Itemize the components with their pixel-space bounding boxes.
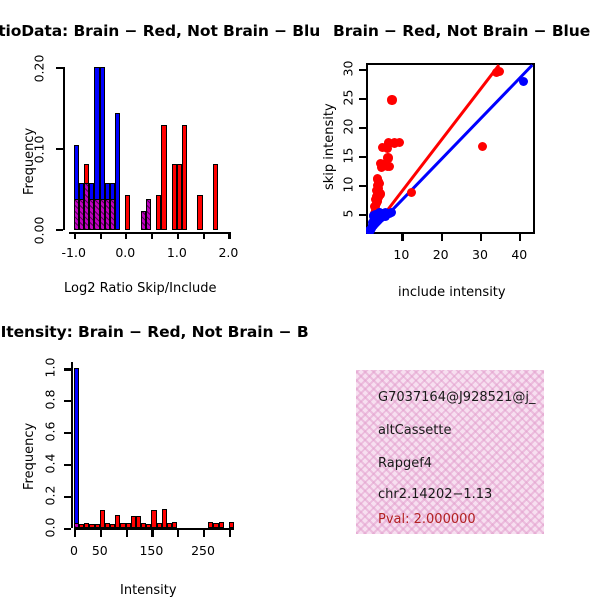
info-locus: chr2.14202−1.13 [378, 487, 492, 502]
scatter-point [519, 77, 528, 86]
scatter-ytick-label: 30 [341, 58, 356, 78]
ratio-histogram-bar [213, 164, 218, 230]
ratio-histogram-bar [125, 195, 130, 230]
info-event-type: altCassette [378, 423, 451, 438]
ratio-histogram-xtick-label: -1.0 [52, 245, 96, 260]
intensity-histogram-ytick [64, 368, 71, 370]
ratio-histogram-bar-overlap [146, 199, 151, 230]
scatter-plot-area [366, 63, 535, 234]
scatter-ytick [359, 127, 366, 129]
ratio-histogram-yaxis [63, 67, 65, 230]
scatter-point [385, 162, 394, 171]
scatter-xtick-label: 20 [425, 247, 457, 262]
scatter-ytick-label: 10 [341, 174, 356, 194]
ratio-histogram-bar [115, 113, 120, 230]
scatter-point [373, 196, 382, 205]
ratio-histogram-xtick [228, 232, 230, 239]
ratio-histogram-bar [182, 125, 187, 230]
scatter-point [387, 95, 396, 104]
ratio-histogram-plot-area [66, 63, 231, 230]
ratio-histogram-ytick [56, 229, 63, 231]
ratio-histogram-xtick [151, 232, 153, 239]
ratio-histogram-bar [197, 195, 202, 230]
intensity-histogram-xtick [203, 530, 205, 537]
intensity-histogram-ylabel: Frequency [22, 423, 37, 490]
scatter-ytick [359, 185, 366, 187]
intensity-histogram-xtick [100, 530, 102, 537]
ratio-histogram-xtick [74, 232, 76, 239]
intensity-histogram-xtick-label: 250 [185, 543, 221, 558]
info-pval: Pval: 2.000000 [378, 512, 476, 527]
ratio-histogram-bar [161, 125, 166, 230]
scatter-xtick [519, 234, 521, 241]
intensity-histogram-ytick-label: 0.6 [43, 418, 58, 446]
intensity-histogram-ytick-label: 0.2 [43, 482, 58, 510]
intensity-histogram-ytick [64, 496, 71, 498]
ratio-histogram-ytick [56, 67, 63, 69]
intensity-histogram-ytick-label: 0.8 [43, 386, 58, 414]
intensity-histogram-xtick [74, 530, 76, 537]
intensity-histogram-xaxis [74, 528, 234, 530]
intensity-histogram-xtick [229, 530, 231, 537]
intensity-histogram-xtick [151, 530, 153, 537]
scatter-title: Brain − Red, Not Brain − Blue [333, 22, 590, 40]
ratio-histogram-xlabel: Log2 Ratio Skip/Include [64, 281, 216, 296]
intensity-histogram-ytick [64, 400, 71, 402]
ratio-histogram-ytick-label: 0.20 [32, 52, 47, 86]
scatter-xtick-label: 30 [464, 247, 496, 262]
panel-intensity-histogram: ne Itensity: Brain − Red, Not Brain − B … [0, 300, 300, 600]
scatter-xtick-label: 10 [385, 247, 417, 262]
ratio-histogram-xtick [203, 232, 205, 239]
intensity-histogram-ytick [64, 464, 71, 466]
info-gene-id: G7037164@J928521@j_ [378, 390, 536, 405]
ratio-histogram-ytick-label: 0.00 [32, 214, 47, 248]
ratio-histogram-xtick-label: 0.0 [103, 245, 147, 260]
scatter-ylabel: skip intensity [322, 103, 337, 190]
intensity-histogram-xlabel: Intensity [120, 583, 177, 598]
scatter-xtick [441, 234, 443, 241]
ratio-histogram-xtick [125, 232, 127, 239]
intensity-histogram-plot-area [74, 362, 234, 528]
scatter-ytick-label: 25 [341, 87, 356, 107]
scatter-xtick [401, 234, 403, 241]
scatter-point [407, 188, 416, 197]
ratio-histogram-ytick-label: 0.10 [32, 133, 47, 167]
ratio-histogram-title: RatioData: Brain − Red, Not Brain − Blu [0, 22, 320, 40]
ratio-histogram-xaxis [69, 232, 230, 234]
ratio-histogram-xtick-label: 2.0 [206, 245, 250, 260]
ratio-histogram-xtick [177, 232, 179, 239]
intensity-histogram-ytick-label: 1.0 [43, 354, 58, 382]
intensity-histogram-xtick [177, 530, 179, 537]
intensity-histogram-ytick-label: 0.4 [43, 450, 58, 478]
intensity-histogram-yaxis [71, 362, 73, 528]
intensity-histogram-xtick-label: 150 [133, 543, 169, 558]
scatter-ytick [359, 156, 366, 158]
scatter-xlabel: include intensity [398, 285, 506, 300]
panel-ratio-histogram: RatioData: Brain − Red, Not Brain − Blu … [0, 0, 300, 310]
scatter-xtick [480, 234, 482, 241]
ratio-histogram-ytick [56, 148, 63, 150]
info-gene-name: Rapgef4 [378, 456, 432, 471]
scatter-ytick-label: 15 [341, 145, 356, 165]
scatter-point [383, 153, 392, 162]
scatter-ytick [359, 69, 366, 71]
panel-scatter: Brain − Red, Not Brain − Blue skip inten… [300, 0, 600, 310]
scatter-xtick-label: 40 [503, 247, 535, 262]
intensity-histogram-xtick-label: 50 [82, 543, 118, 558]
ratio-histogram-xtick-label: 1.0 [155, 245, 199, 260]
intensity-histogram-ytick-label: 0.0 [43, 514, 58, 542]
intensity-histogram-ytick [64, 432, 71, 434]
scatter-point [395, 138, 404, 147]
scatter-ytick [359, 98, 366, 100]
intensity-histogram-xtick [126, 530, 128, 537]
scatter-ytick [359, 214, 366, 216]
scatter-ytick-label: 20 [341, 116, 356, 136]
intensity-histogram-ytick [64, 528, 71, 530]
intensity-histogram-bar [74, 368, 79, 528]
scatter-point [495, 67, 504, 76]
scatter-point [381, 211, 390, 220]
scatter-point [373, 174, 382, 183]
intensity-histogram-title: ne Itensity: Brain − Red, Not Brain − B [0, 323, 309, 341]
scatter-point [478, 142, 487, 151]
ratio-histogram-xtick [100, 232, 102, 239]
scatter-ytick-label: 5 [341, 203, 356, 223]
gene-info-box: G7037164@J928521@j_ altCassette Rapgef4 … [356, 370, 544, 534]
